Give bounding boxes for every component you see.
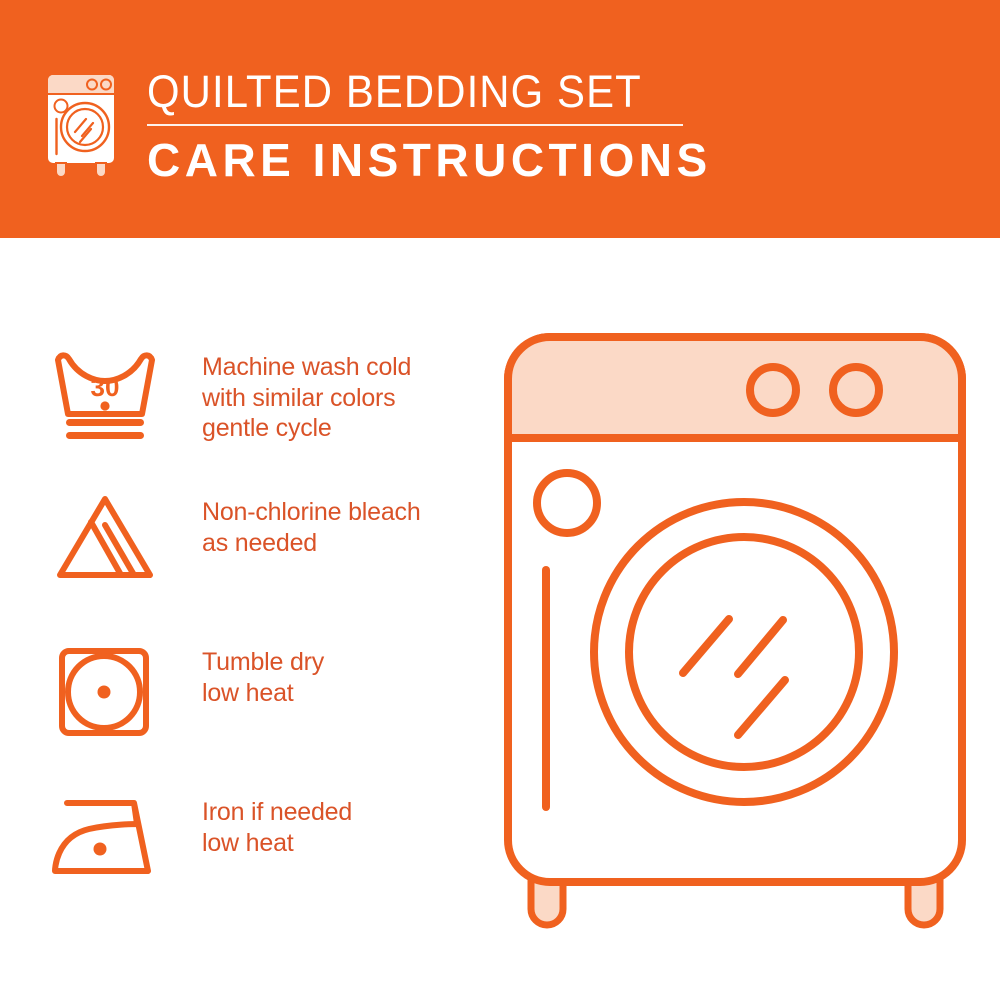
header-title-group: QUILTED BEDDING SET CARE INSTRUCTIONS (147, 66, 747, 186)
page-title: QUILTED BEDDING SET (147, 66, 705, 118)
care-item-machine-wash: 30 Machine wash cold with similar colors… (46, 348, 476, 444)
wash-temperature-label: 30 (91, 372, 120, 402)
care-instruction-list: 30 Machine wash cold with similar colors… (0, 238, 480, 1000)
washing-machine-icon (44, 72, 118, 176)
care-item-label: Iron if needed low heat (202, 793, 352, 858)
care-item-label: Non-chlorine bleach as needed (202, 493, 421, 558)
header-band: QUILTED BEDDING SET CARE INSTRUCTIONS (0, 0, 1000, 238)
title-divider (147, 124, 683, 126)
bleach-triangle-icon (46, 493, 164, 581)
care-item-label: Machine wash cold with similar colors ge… (202, 348, 411, 444)
care-item-label: Tumble dry low heat (202, 643, 324, 708)
wash-tub-icon: 30 (46, 348, 164, 444)
washing-machine-illustration (480, 322, 990, 942)
tumble-dry-icon (46, 643, 164, 739)
page-subtitle: CARE INSTRUCTIONS (147, 134, 747, 186)
care-item-bleach: Non-chlorine bleach as needed (46, 493, 476, 581)
care-item-tumble-dry: Tumble dry low heat (46, 643, 476, 739)
care-item-iron: Iron if needed low heat (46, 793, 476, 879)
iron-icon (46, 793, 164, 879)
